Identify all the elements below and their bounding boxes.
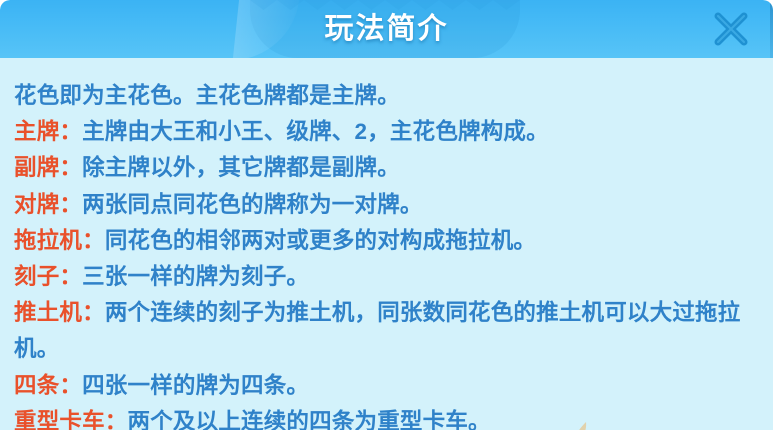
rule-text: 除主牌以外，其它牌都是副牌。 [82, 155, 400, 180]
rule-keyword: 对牌： [14, 192, 82, 217]
rule-item: 主牌：主牌由大王和小王、级牌、2，主花色牌构成。 [14, 114, 759, 150]
rule-keyword: 重型卡车： [14, 409, 128, 430]
rule-text: 三张一样的牌为刻子。 [82, 264, 309, 289]
close-icon[interactable] [709, 7, 753, 51]
rule-item: 对牌：两张同点同花色的牌称为一对牌。 [14, 187, 759, 223]
rule-keyword: 四条： [14, 373, 82, 398]
rule-item: 刻子：三张一样的牌为刻子。 [14, 259, 759, 295]
site-watermark: 零元找游戏 www.lingliuyx.com www.06zyx.com [556, 416, 773, 430]
rule-text: 同花色的相邻两对或更多的对构成拖拉机。 [105, 228, 536, 253]
rule-keyword: 刻子： [14, 264, 82, 289]
rule-item: 推土机：两个连续的刻子为推土机，同张数同花色的推土机可以大过拖拉机。 [14, 295, 759, 367]
dialog-header: 玩法简介 [0, 0, 773, 58]
gameplay-intro-dialog: 玩法简介 花色即为主花色。主花色牌都是主牌。 主牌：主牌由大王和小王、 [0, 0, 773, 430]
brand-name: 零元找游戏 [600, 422, 765, 430]
rule-item: 副牌：除主牌以外，其它牌都是副牌。 [14, 150, 759, 186]
brand-logo-icon [556, 420, 602, 430]
rule-keyword: 主牌： [14, 119, 82, 144]
rule-keyword: 拖拉机： [14, 228, 105, 253]
rule-item: 花色即为主花色。主花色牌都是主牌。 [14, 78, 759, 114]
rule-text: 四张一样的牌为四条。 [82, 373, 309, 398]
rule-text: 主牌由大王和小王、级牌、2，主花色牌构成。 [82, 119, 549, 144]
rule-keyword: 副牌： [14, 155, 82, 180]
page-title: 玩法简介 [0, 0, 773, 58]
rule-text: 花色即为主花色。主花色牌都是主牌。 [14, 83, 400, 108]
rule-item: 四条：四张一样的牌为四条。 [14, 368, 759, 404]
dialog-body: 花色即为主花色。主花色牌都是主牌。 主牌：主牌由大王和小王、级牌、2，主花色牌构… [0, 58, 773, 430]
rule-item: 拖拉机：同花色的相邻两对或更多的对构成拖拉机。 [14, 223, 759, 259]
rules-list: 花色即为主花色。主花色牌都是主牌。 主牌：主牌由大王和小王、级牌、2，主花色牌构… [14, 78, 759, 430]
rule-text: 两个连续的刻子为推土机，同张数同花色的推土机可以大过拖拉机。 [14, 300, 740, 361]
rule-text: 两个及以上连续的四条为重型卡车。 [128, 409, 491, 430]
rule-text: 两张同点同花色的牌称为一对牌。 [82, 192, 423, 217]
rule-keyword: 推土机： [14, 300, 105, 325]
